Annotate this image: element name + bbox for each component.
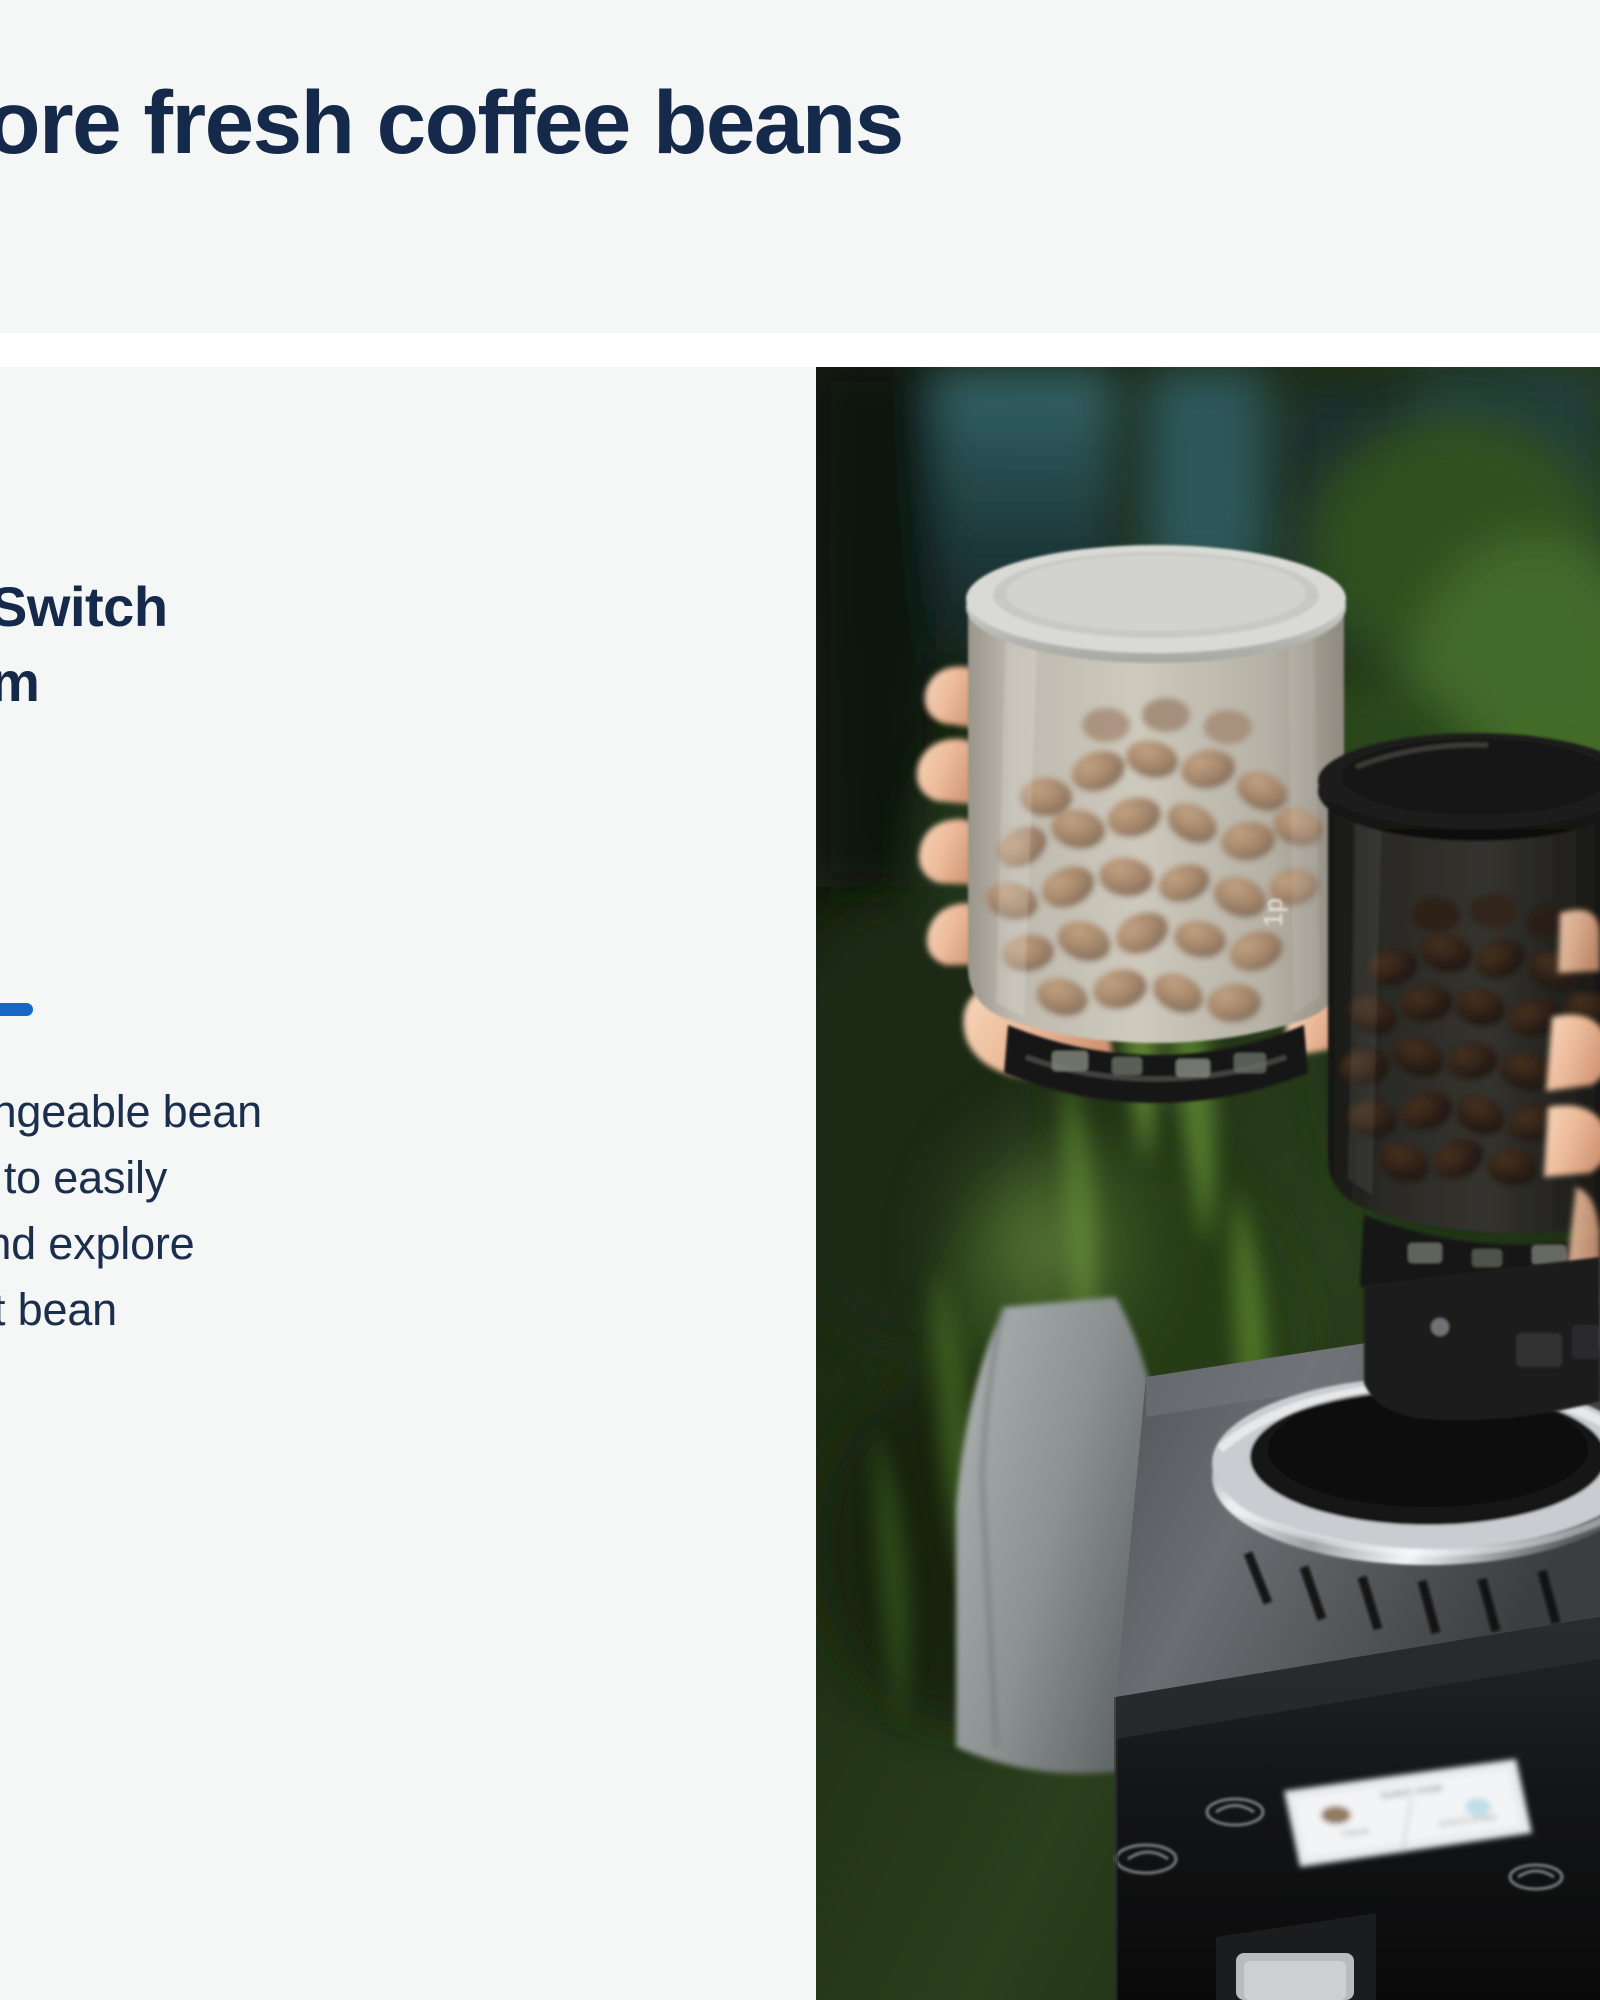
feature-image-panel: 1p (816, 367, 1600, 2000)
feature-body-line-4: fferent bean (0, 1277, 580, 1343)
svg-text:1p: 1p (1258, 898, 1288, 927)
page-title: plore fresh coffee beans (0, 62, 1600, 182)
feature-heading-line-1: ean Switch (0, 569, 640, 644)
feature-text-panel: ean Switch ystem erchangeable bean ppers… (0, 367, 816, 2000)
feature-body-text: erchangeable bean ppers to easily itch a… (0, 1079, 580, 1409)
product-feature-page: plore fresh coffee beans ean Switch yste… (0, 0, 1600, 2000)
feature-heading-line-2: ystem (0, 644, 640, 719)
feature-body-line-3: itch and explore (0, 1211, 580, 1277)
section-separator (0, 333, 1600, 367)
feature-text-inner: ean Switch ystem erchangeable bean ppers… (0, 367, 640, 2000)
feature-content-row: ean Switch ystem erchangeable bean ppers… (0, 367, 1600, 2000)
coffee-machine-bean-hoppers-photo: 1p (816, 367, 1600, 2000)
feature-heading: ean Switch ystem (0, 569, 640, 719)
feature-body-line-1: erchangeable bean (0, 1079, 580, 1145)
feature-body-line-2: ppers to easily (0, 1145, 580, 1211)
accent-rule (0, 1003, 33, 1016)
page-header-band: plore fresh coffee beans (0, 0, 1600, 333)
feature-body-line-5: rieties (0, 1343, 580, 1409)
